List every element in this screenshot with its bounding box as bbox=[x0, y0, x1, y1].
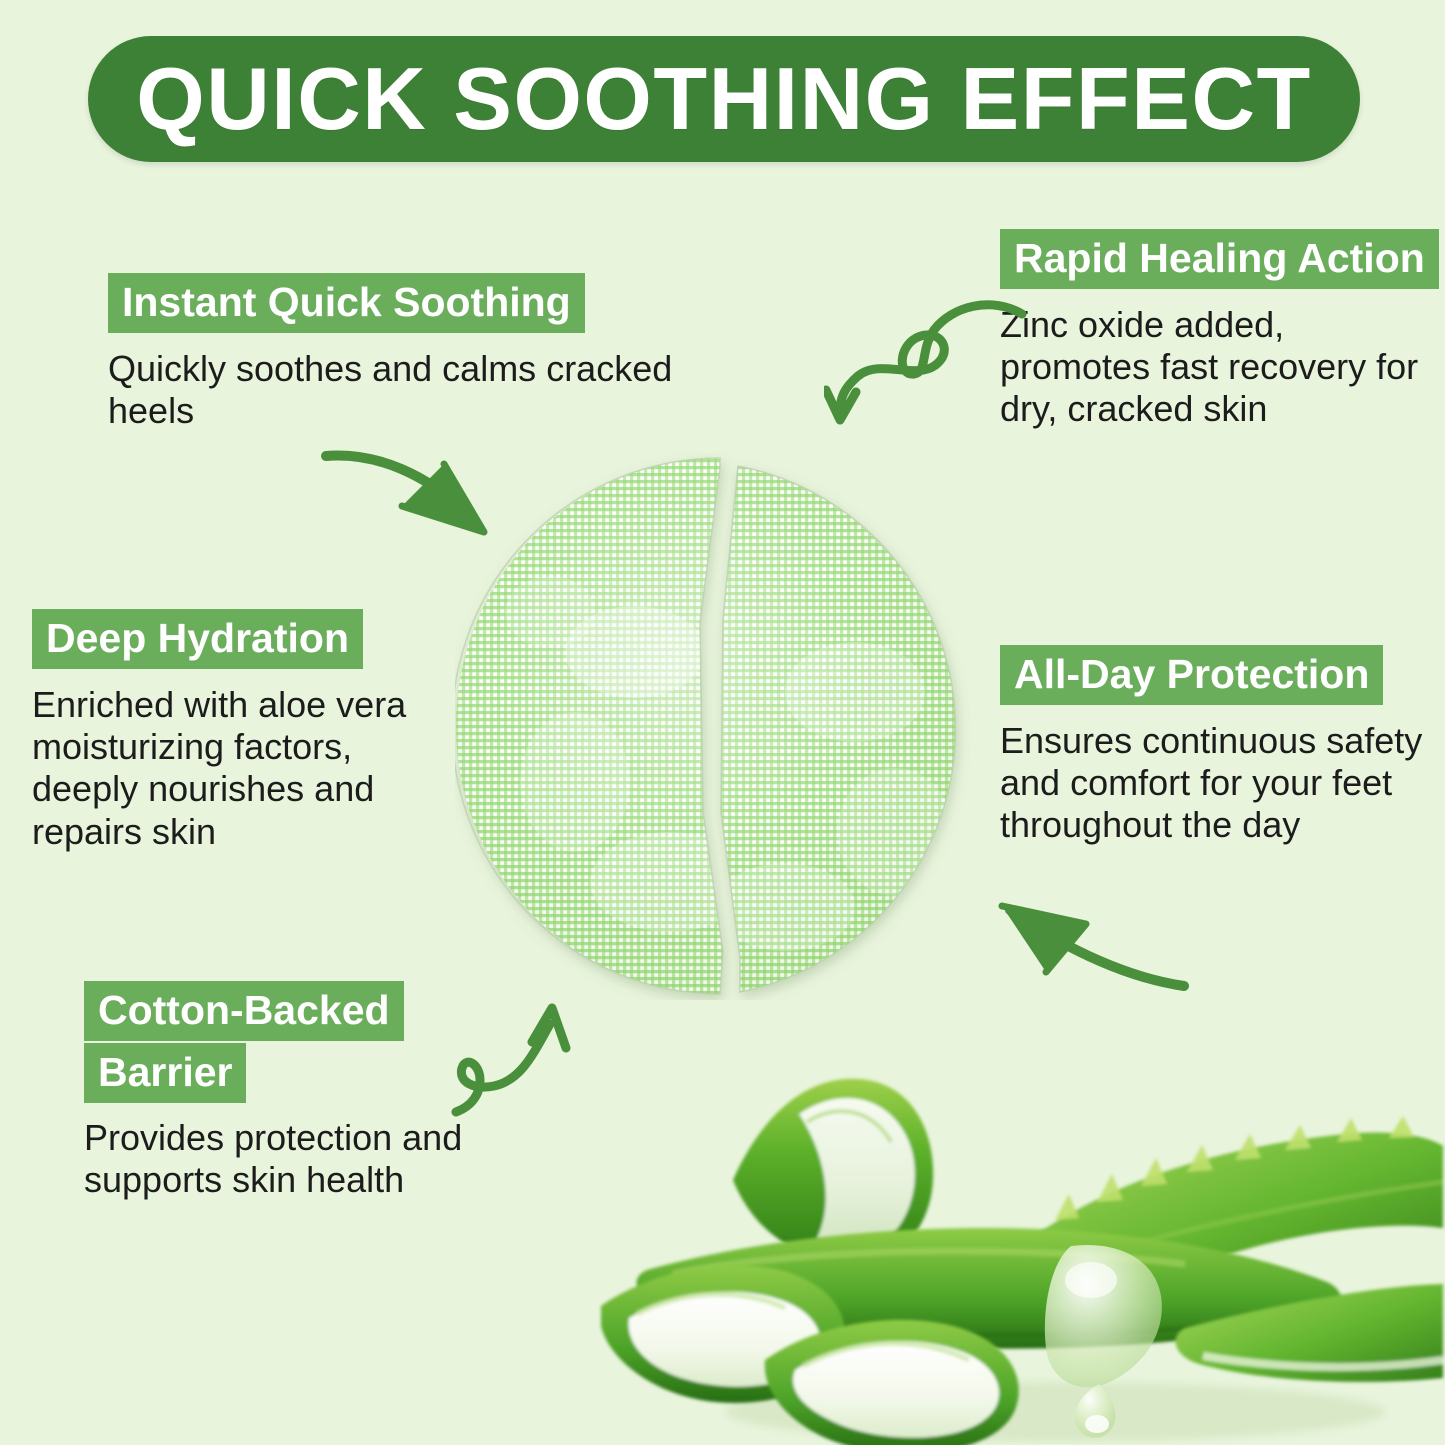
feature-title-wrap: All-Day Protection bbox=[1000, 644, 1430, 706]
feature-title: All-Day Protection bbox=[1000, 645, 1383, 705]
feature-title-wrap: Rapid Healing Action bbox=[1000, 228, 1440, 290]
curved-arrow-down-right-icon bbox=[318, 420, 548, 570]
feature-title: Instant Quick Soothing bbox=[108, 273, 585, 333]
feature-description: Enriched with aloe vera moisturizing fac… bbox=[32, 684, 462, 854]
feature-description: Zinc oxide added, promotes fast recovery… bbox=[1000, 304, 1440, 431]
header-banner: QUICK SOOTHING EFFECT bbox=[88, 36, 1360, 162]
feature-deep-hydration: Deep Hydration Enriched with aloe vera m… bbox=[32, 608, 462, 853]
curly-arrow-down-left-icon bbox=[824, 300, 1034, 430]
feature-title: Rapid Healing Action bbox=[1000, 229, 1439, 289]
feature-description: Ensures continuous safety and comfort fo… bbox=[1000, 720, 1430, 847]
infographic-canvas: QUICK SOOTHING EFFECT bbox=[0, 0, 1445, 1445]
feature-title: Deep Hydration bbox=[32, 609, 363, 669]
page-title: QUICK SOOTHING EFFECT bbox=[136, 55, 1312, 143]
feature-title-wrap: Instant Quick Soothing bbox=[108, 272, 708, 334]
feature-all-day-protection: All-Day Protection Ensures continuous sa… bbox=[1000, 644, 1430, 847]
curved-arrow-up-left-icon bbox=[980, 880, 1190, 1010]
aloe-vera-leaves-photo bbox=[585, 1060, 1445, 1445]
feature-instant-quick-soothing: Instant Quick Soothing Quickly soothes a… bbox=[108, 272, 708, 432]
feature-description: Provides protection and supports skin he… bbox=[84, 1117, 514, 1202]
feature-title: Cotton-Backed Barrier bbox=[84, 981, 404, 1103]
feature-rapid-healing-action: Rapid Healing Action Zinc oxide added, p… bbox=[1000, 228, 1440, 431]
feature-title-wrap: Deep Hydration bbox=[32, 608, 462, 670]
